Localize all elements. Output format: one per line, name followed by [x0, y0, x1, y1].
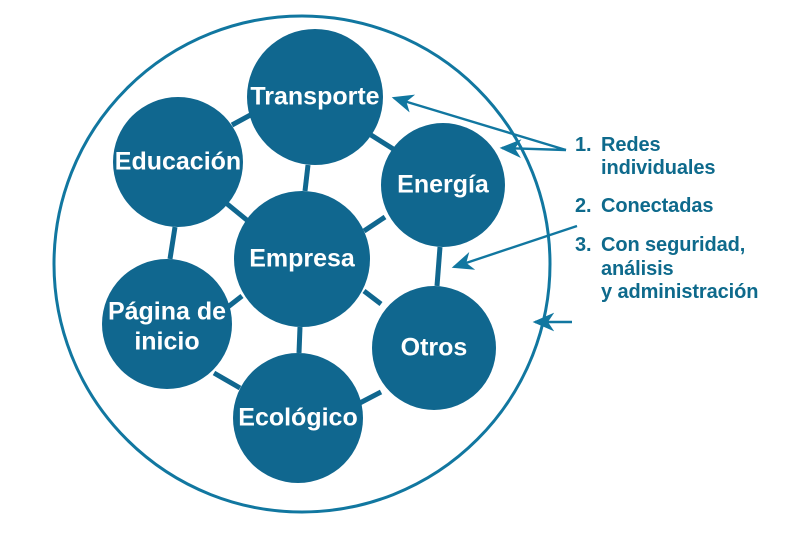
callout-2-number: 2.: [575, 195, 601, 218]
diagram-canvas: Transporte Educación Energía Empresa Pág…: [0, 0, 807, 546]
connector-empresa-otros: [364, 291, 381, 304]
callout-2: 2. Conectadas: [575, 195, 800, 218]
callout-1-number: 1.: [575, 134, 601, 157]
callout-3-number: 3.: [575, 234, 601, 257]
connector-energia-empresa: [364, 217, 385, 231]
node-label-energia: Energía: [397, 171, 490, 199]
connector-transporte-empresa: [305, 165, 308, 191]
callout-3: 3. Con seguridad, análisis y administrac…: [575, 234, 800, 304]
connector-educacion-empresa: [226, 203, 248, 221]
node-label-educacion: Educación: [115, 148, 241, 176]
connector-energia-otros: [437, 247, 440, 286]
callout-legend: 1. Redes individuales 2. Conectadas 3. C…: [575, 134, 800, 304]
node-label-pagina-de-inicio-line2: inicio: [134, 328, 199, 356]
connector-empresa-ecologico: [299, 327, 300, 353]
node-label-pagina-de-inicio-line1: Página de: [108, 298, 226, 326]
node-label-otros: Otros: [401, 334, 468, 362]
connector-educacion-paginainicio: [170, 227, 175, 259]
callout-2-text: Conectadas: [601, 195, 800, 218]
node-label-empresa: Empresa: [249, 245, 356, 273]
callout-1: 1. Redes individuales: [575, 134, 800, 181]
callout-1-text: Redes individuales: [601, 134, 800, 181]
node-label-transporte: Transporte: [250, 83, 379, 111]
connector-paginainicio-ecologico: [214, 373, 240, 388]
callout-3-text: Con seguridad, análisis y administración: [601, 234, 800, 304]
node-label-ecologico: Ecológico: [238, 404, 357, 432]
